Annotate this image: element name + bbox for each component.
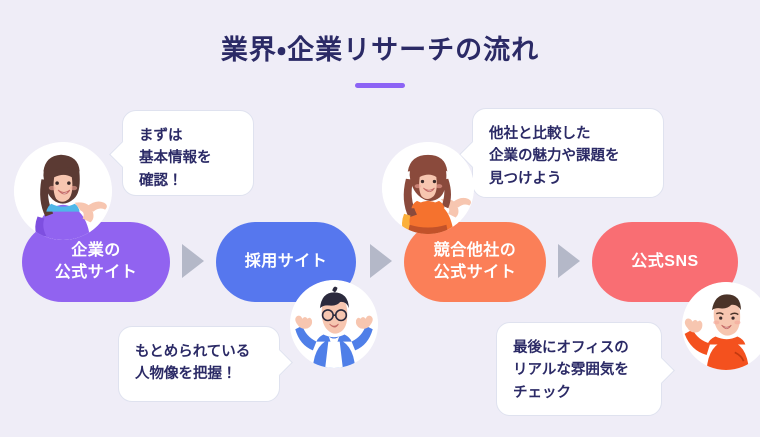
step-1-line-2: 公式サイト bbox=[55, 262, 138, 284]
infographic-canvas: 業界・企業リサーチの流れ 企業の 公式サイト 採用サイト 競合他社の 公式サイト… bbox=[0, 0, 760, 437]
bubble-2-line-3: 見つけよう bbox=[489, 168, 647, 190]
bubble-4-line-2: リアルな雰囲気を bbox=[513, 359, 645, 381]
flow-step-competitor-official-site[interactable]: 競合他社の 公式サイト bbox=[404, 222, 546, 302]
bubble-2-line-2: 企業の魅力や課題を bbox=[489, 145, 647, 167]
woman-purple-sweater-avatar bbox=[14, 142, 112, 240]
title-underline bbox=[355, 83, 405, 88]
speech-bubble-grasp-desired-profile: もとめられている 人物像を把握！ bbox=[118, 326, 280, 402]
man-orange-shirt-avatar bbox=[682, 282, 760, 370]
bubble-1-tail bbox=[109, 141, 136, 168]
bubble-3-line-1: もとめられている bbox=[135, 341, 263, 363]
bubble-1-line-1: まずは bbox=[139, 125, 237, 147]
speech-bubble-check-office-atmosphere: 最後にオフィスの リアルな雰囲気を チェック bbox=[496, 322, 662, 416]
bubble-1-line-3: 確認！ bbox=[139, 170, 237, 192]
flow-arrow-1-icon bbox=[182, 244, 204, 278]
bubble-4-tail bbox=[648, 357, 675, 384]
bubble-1-line-2: 基本情報を bbox=[139, 147, 237, 169]
woman-orange-top-avatar bbox=[382, 142, 474, 234]
speech-bubble-compare-competitors: 他社と比較した 企業の魅力や課題を 見つけよう bbox=[472, 108, 664, 198]
step-3-line-1: 競合他社の bbox=[434, 240, 517, 262]
step-4-line-1: 公式SNS bbox=[631, 251, 698, 273]
man-blue-jacket-avatar bbox=[290, 280, 378, 368]
bubble-2-line-1: 他社と比較した bbox=[489, 123, 647, 145]
flow-arrow-2-icon bbox=[370, 244, 392, 278]
bubble-3-tail bbox=[266, 349, 293, 376]
step-2-line-1: 採用サイト bbox=[245, 251, 328, 273]
step-3-line-2: 公式サイト bbox=[434, 262, 517, 284]
page-title: 業界・企業リサーチの流れ bbox=[0, 28, 760, 67]
bubble-3-line-2: 人物像を把握！ bbox=[135, 363, 263, 385]
speech-bubble-first-check-basics: まずは 基本情報を 確認！ bbox=[122, 110, 254, 196]
step-1-line-1: 企業の bbox=[55, 240, 138, 262]
bubble-4-line-1: 最後にオフィスの bbox=[513, 337, 645, 359]
bubble-4-line-3: チェック bbox=[513, 382, 645, 404]
flow-arrow-3-icon bbox=[558, 244, 580, 278]
